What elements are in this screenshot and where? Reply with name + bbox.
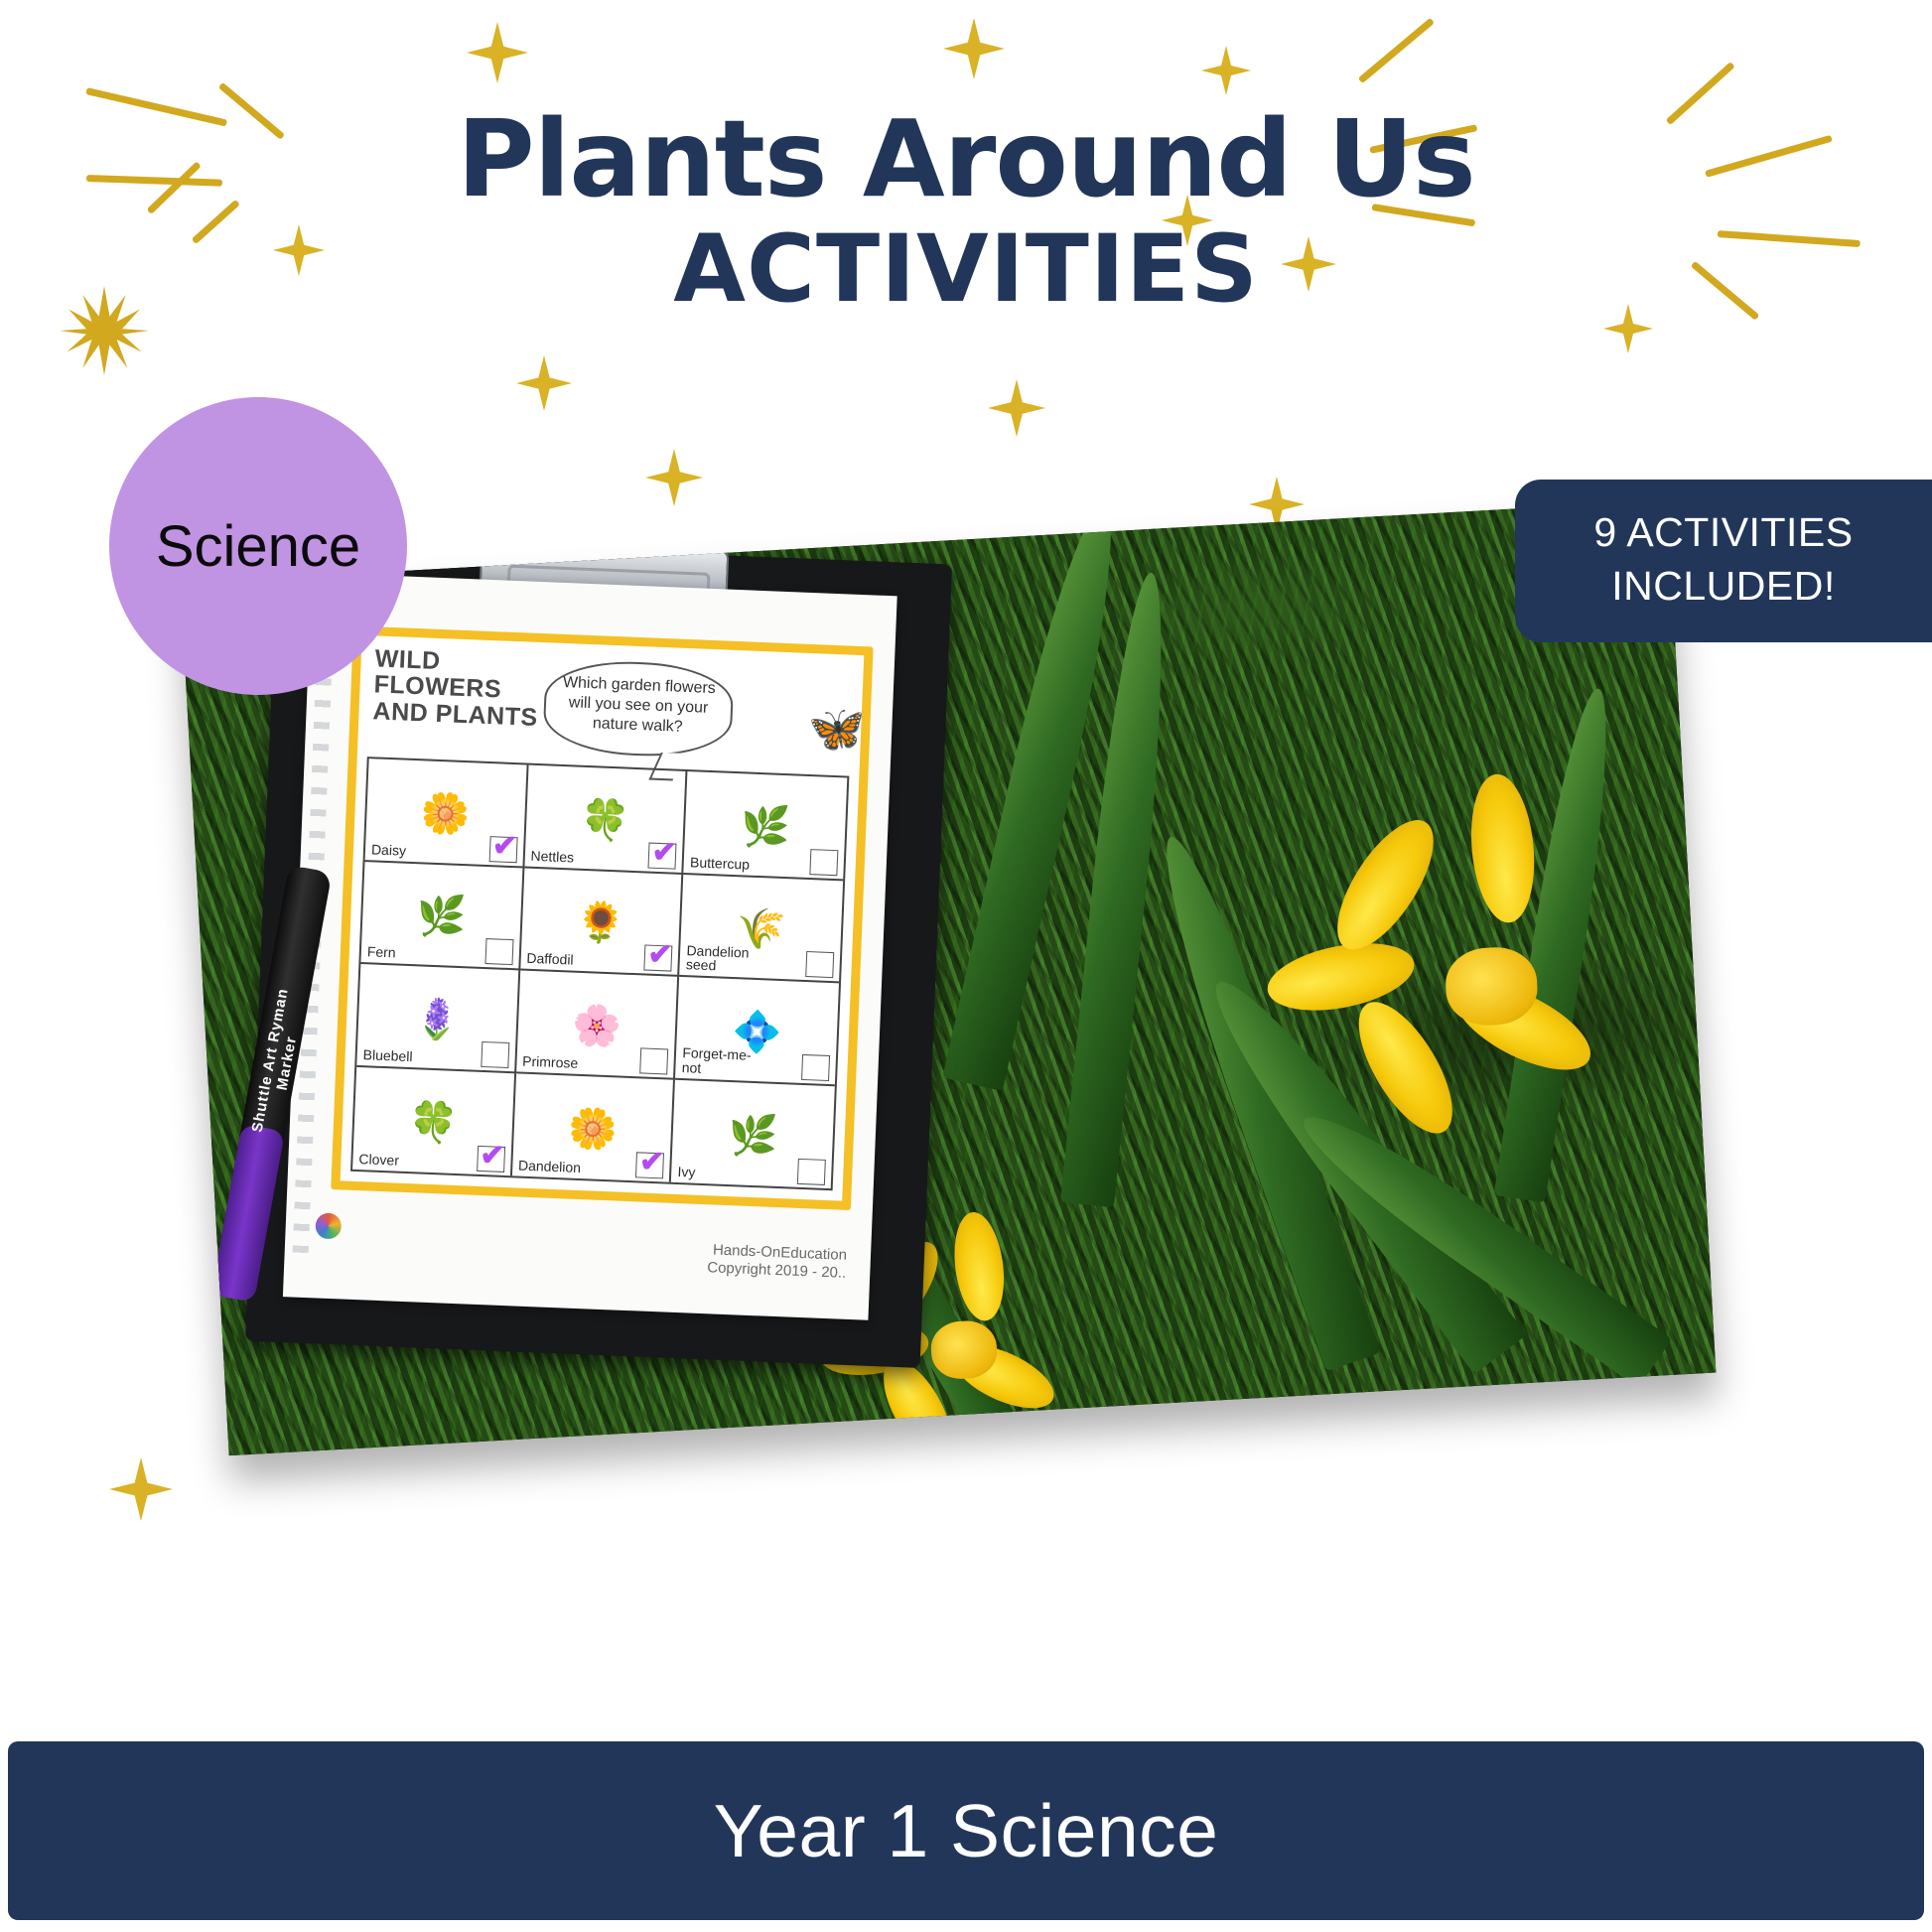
worksheet-title: WILD FLOWERS AND PLANTS: [372, 645, 564, 731]
subject-badge[interactable]: Science: [109, 397, 407, 695]
bluebell-icon: 🪻: [411, 970, 465, 1068]
four-point-sparkle-icon: [1201, 46, 1251, 95]
checklist-item[interactable]: 🌿 Ivy: [671, 1079, 835, 1188]
activities-count-badge: 9 ACTIVITIES INCLUDED!: [1515, 480, 1932, 642]
subject-badge-label: Science: [156, 513, 360, 580]
checklist-item[interactable]: 🌿 Fern: [360, 862, 524, 971]
checklist-item-label: Ivy: [677, 1165, 695, 1179]
four-point-sparkle-icon: [988, 379, 1045, 437]
checklist-item-label: Dandelion seed: [686, 943, 772, 976]
checklist-item-label: Nettles: [530, 849, 574, 865]
checklist-item-checkbox[interactable]: [797, 1159, 826, 1185]
four-point-sparkle-icon: [109, 1457, 173, 1521]
checklist-item[interactable]: 🌼 Daisy: [365, 759, 529, 868]
clover-icon: 🍀: [406, 1073, 460, 1173]
checklist-item[interactable]: 🪻 Bluebell: [356, 964, 520, 1073]
daisy-icon: 🌼: [419, 764, 473, 863]
nettle-leaf-icon: 🍀: [579, 771, 632, 870]
checklist-item-label: Dandelion: [518, 1159, 582, 1175]
product-photo: WILD FLOWERS AND PLANTS Which garden flo…: [181, 500, 1717, 1455]
checklist-item[interactable]: 🌸 Primrose: [516, 970, 680, 1079]
checklist-item[interactable]: 🍀 Clover: [352, 1066, 516, 1175]
checklist-item-checkbox[interactable]: [801, 1053, 830, 1080]
checklist-item-checkbox[interactable]: [481, 1040, 509, 1067]
footer-banner: Year 1 Science: [8, 1741, 1924, 1920]
ray-line-icon: [1358, 18, 1435, 83]
checklist-item-label: Primrose: [522, 1053, 579, 1070]
daffodil-icon: 🌻: [574, 874, 627, 972]
daffodil-petal: [1340, 988, 1470, 1147]
fern-icon: 🌿: [415, 868, 469, 966]
publisher-logo-icon: [315, 1212, 342, 1239]
worksheet-sheet: WILD FLOWERS AND PLANTS Which garden flo…: [283, 573, 897, 1320]
checklist-item-checkbox[interactable]: [635, 1152, 664, 1178]
four-point-sparkle-icon: [516, 355, 572, 411]
checklist-item-checkbox[interactable]: [488, 836, 517, 863]
activities-badge-line-2: INCLUDED!: [1549, 559, 1898, 613]
worksheet-footer: Hands-OnEducation Copyright 2019 - 20..: [707, 1241, 847, 1284]
butterfly-icon: 🦋: [807, 705, 866, 753]
worksheet-frame: WILD FLOWERS AND PLANTS Which garden flo…: [331, 625, 873, 1210]
checklist-item-label: Clover: [358, 1152, 399, 1168]
daffodil-petal: [1262, 932, 1420, 1022]
checklist-item-checkbox[interactable]: [648, 842, 677, 869]
checklist-item-checkbox[interactable]: [640, 1047, 669, 1074]
checklist-item-label: Daffodil: [526, 951, 574, 968]
checklist-item[interactable]: 💠 Forget-me-not: [675, 977, 839, 1086]
checklist-item[interactable]: 🍀 Nettles: [524, 765, 688, 875]
checklist-item-label: Bluebell: [362, 1047, 412, 1064]
checklist-item-label: Buttercup: [690, 855, 750, 872]
checklist-item-label: Daisy: [371, 842, 407, 858]
checklist-item-checkbox[interactable]: [805, 951, 834, 978]
four-point-sparkle-icon: [645, 449, 703, 506]
checklist-item[interactable]: 🌿 Buttercup: [684, 771, 848, 881]
checklist-item-checkbox[interactable]: [809, 849, 838, 876]
photo-content: WILD FLOWERS AND PLANTS Which garden flo…: [181, 500, 1717, 1455]
footer-banner-label: Year 1 Science: [714, 1788, 1219, 1873]
checklist-item-label: Fern: [367, 945, 396, 961]
checklist-item-checkbox[interactable]: [644, 944, 673, 971]
checklist-item-checkbox[interactable]: [477, 1146, 505, 1173]
worksheet-speech-bubble: Which garden flowers will you see on you…: [542, 658, 735, 759]
activities-badge-line-1: 9 ACTIVITIES: [1549, 505, 1898, 559]
checklist-item[interactable]: 🌾 Dandelion seed: [679, 874, 843, 983]
page-title: Plants Around Us ACTIVITIES: [0, 107, 1932, 328]
title-line-1: Plants Around Us: [0, 107, 1932, 213]
daffodil-flower: [1248, 796, 1717, 1218]
checklist-item-label: Forget-me-not: [681, 1045, 767, 1078]
checklist-item[interactable]: 🌻 Daffodil: [520, 868, 684, 977]
worksheet-title-line-3: AND PLANTS: [372, 698, 562, 732]
checklist-item[interactable]: 🌼 Dandelion: [512, 1073, 676, 1182]
title-line-2: ACTIVITIES: [0, 213, 1932, 328]
four-point-sparkle-icon: [943, 18, 1005, 79]
checklist-item-checkbox[interactable]: [484, 938, 513, 965]
ivy-icon: 🌿: [727, 1086, 780, 1186]
worksheet-checklist-grid: 🌼 Daisy 🍀 Nettles 🌿 Buttercup: [350, 757, 849, 1190]
four-point-sparkle-icon: [467, 22, 528, 83]
daffodil-petal: [1319, 805, 1451, 964]
